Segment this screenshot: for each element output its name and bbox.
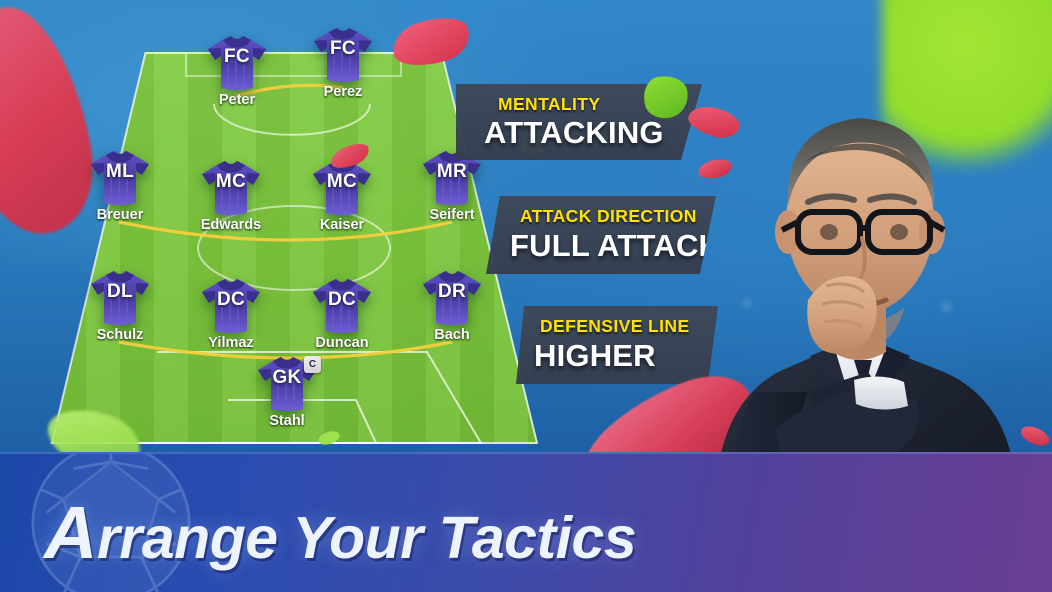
mentality-value: ATTACKING xyxy=(484,115,664,151)
defensive-line-value: HIGHER xyxy=(534,338,656,374)
player-name: Peter xyxy=(179,92,295,108)
headline-initial: A xyxy=(44,491,97,574)
player-name: Yilmaz xyxy=(173,335,289,351)
promo-screen: FCPeter FCPerez MLBreuer xyxy=(0,0,1052,592)
kit-shirt-icon xyxy=(312,26,374,84)
captain-badge: C xyxy=(304,356,321,373)
player-name: Stahl xyxy=(229,413,345,429)
player-name: Schulz xyxy=(62,327,178,343)
kit-shirt-icon xyxy=(206,34,268,92)
player-name: Seifert xyxy=(394,207,510,223)
player-name: Perez xyxy=(285,84,401,100)
headline-rest: rrange Your Tactics xyxy=(97,505,636,571)
player-name: Edwards xyxy=(173,217,289,233)
player-name: Duncan xyxy=(284,335,400,351)
player-name: Kaiser xyxy=(284,217,400,233)
kit-shirt-icon xyxy=(311,159,373,217)
kit-shirt-icon xyxy=(311,277,373,335)
kit-shirt-icon xyxy=(89,149,151,207)
mentality-label: MENTALITY xyxy=(498,94,600,115)
headline: Arrange Your Tactics xyxy=(44,490,636,575)
kit-shirt-icon xyxy=(89,269,151,327)
player-name: Breuer xyxy=(62,207,178,223)
bottom-banner: Arrange Your Tactics xyxy=(0,452,1052,592)
kit-shirt-icon xyxy=(421,269,483,327)
player-name: Bach xyxy=(394,327,510,343)
kit-shirt-icon xyxy=(200,159,262,217)
kit-shirt-icon xyxy=(200,277,262,335)
